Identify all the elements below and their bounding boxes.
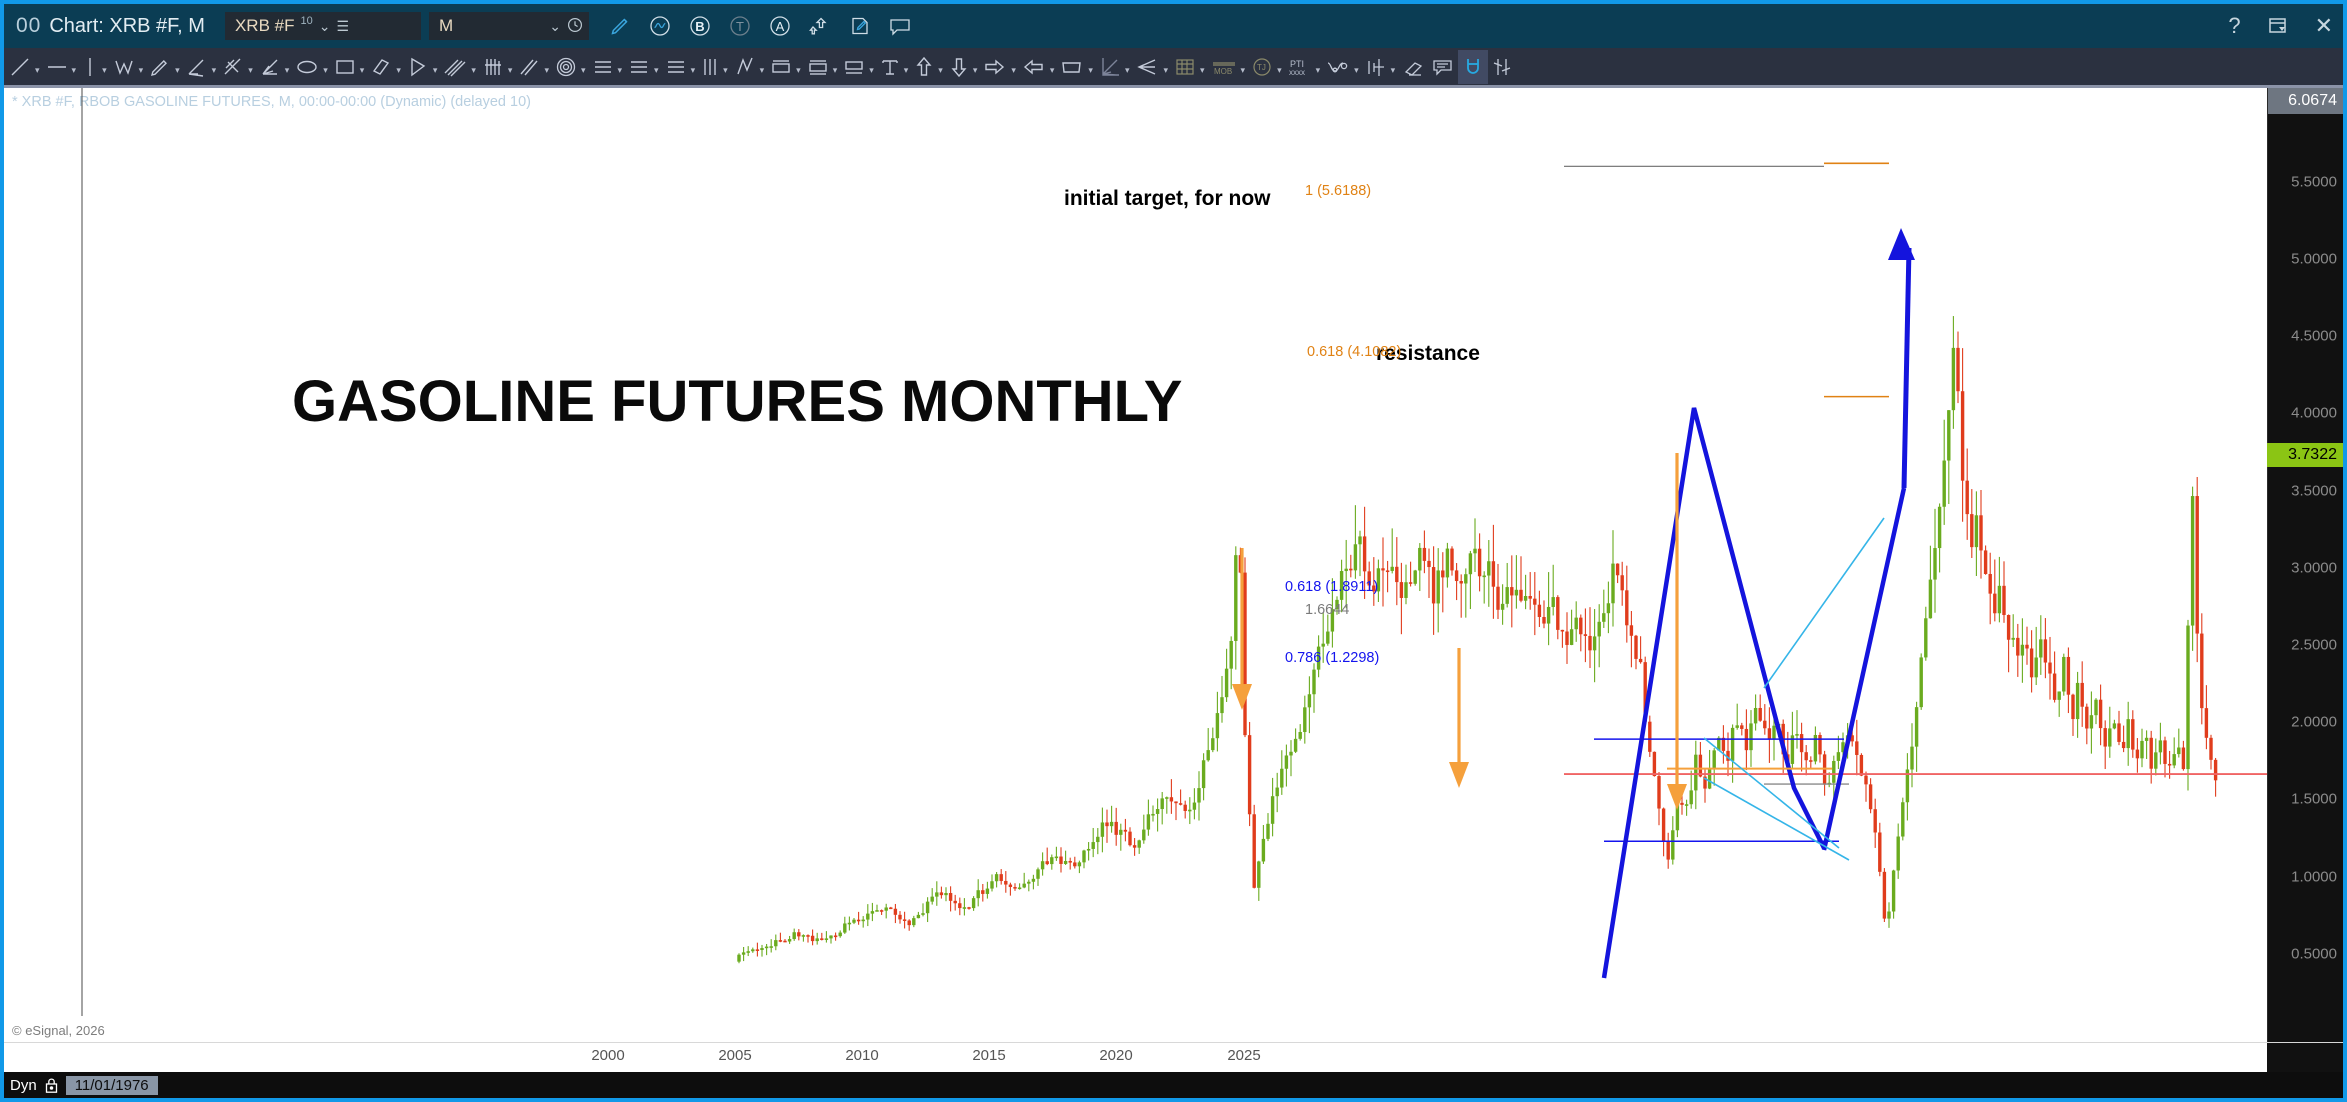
arrow-up-tool[interactable] bbox=[911, 50, 937, 84]
tj-circle-tool[interactable]: TJ bbox=[1248, 50, 1276, 84]
chevron-down-icon[interactable]: ▾ bbox=[972, 58, 981, 75]
chevron-down-icon[interactable]: ⌄ bbox=[319, 18, 331, 35]
candle bbox=[2048, 637, 2051, 700]
candle bbox=[1961, 348, 1964, 522]
candle bbox=[2094, 698, 2097, 724]
candle bbox=[1418, 543, 1421, 591]
candle bbox=[1952, 316, 1955, 429]
candle bbox=[1970, 489, 1973, 558]
chevron-down-icon[interactable]: ▾ bbox=[868, 58, 877, 75]
vertical-bars-tool[interactable] bbox=[698, 50, 722, 84]
close-window-button[interactable]: ✕ bbox=[2315, 15, 2333, 37]
callout-box-tool[interactable] bbox=[804, 50, 832, 84]
down-arrow-2022-head bbox=[1667, 784, 1687, 810]
candle bbox=[1216, 692, 1219, 752]
symbol-field[interactable]: XRB #F 10 ⌄ ☰ bbox=[225, 12, 421, 40]
candle bbox=[1639, 636, 1642, 663]
candle bbox=[760, 945, 763, 957]
candle bbox=[1303, 696, 1306, 744]
annotation-a-icon[interactable]: A bbox=[767, 13, 793, 39]
candle bbox=[1358, 531, 1361, 576]
candle bbox=[1101, 808, 1104, 853]
candle bbox=[981, 884, 984, 902]
candle bbox=[1427, 549, 1430, 598]
chevron-down-icon[interactable]: ▾ bbox=[174, 58, 183, 75]
chart-plot[interactable]: * XRB #F, RBOB GASOLINE FUTURES, M, 00:0… bbox=[4, 88, 2267, 1042]
candle bbox=[1763, 704, 1766, 735]
candle bbox=[1211, 728, 1214, 753]
price-tick: 0.5000 bbox=[2291, 945, 2337, 962]
candle bbox=[1464, 568, 1467, 617]
candle bbox=[1892, 870, 1895, 919]
lock-icon[interactable] bbox=[44, 1077, 59, 1094]
chevron-down-icon[interactable]: ▾ bbox=[832, 58, 841, 75]
candle bbox=[1188, 797, 1191, 824]
status-bar: Dyn 11/01/1976 bbox=[4, 1072, 2343, 1098]
candle bbox=[1874, 799, 1877, 848]
chevron-down-icon[interactable]: ▾ bbox=[138, 58, 147, 75]
measure-tool[interactable] bbox=[1362, 50, 1390, 84]
candle bbox=[747, 946, 750, 956]
arrow-right-tool[interactable] bbox=[980, 50, 1010, 84]
time-tick: 2025 bbox=[1227, 1047, 1260, 1064]
chevron-down-icon[interactable]: ▾ bbox=[1199, 58, 1208, 75]
candle bbox=[1096, 828, 1099, 854]
candle bbox=[1542, 600, 1545, 628]
candle bbox=[1920, 653, 1923, 709]
vertical-line-tool[interactable] bbox=[79, 50, 101, 84]
initial-target-annotation: initial target, for now bbox=[1064, 187, 1271, 211]
candle bbox=[1197, 771, 1200, 820]
pattern-tool[interactable] bbox=[1323, 50, 1353, 84]
minor-trend-b bbox=[1704, 778, 1849, 860]
candle bbox=[1593, 609, 1596, 682]
time-tick: 2020 bbox=[1099, 1047, 1132, 1064]
candle bbox=[1289, 740, 1292, 776]
fib-1-label: 1 (5.6188) bbox=[1305, 183, 1371, 199]
candle bbox=[1736, 704, 1739, 730]
svg-text:MOB: MOB bbox=[1214, 67, 1232, 76]
chevron-down-icon[interactable]: ▾ bbox=[1276, 58, 1285, 75]
candle bbox=[1243, 557, 1246, 737]
chevron-down-icon[interactable]: ▾ bbox=[322, 58, 331, 75]
chevron-down-icon[interactable]: ▾ bbox=[211, 58, 220, 75]
candle bbox=[774, 935, 777, 951]
circle-target-tool[interactable] bbox=[552, 50, 580, 84]
candle bbox=[2081, 661, 2084, 727]
candle bbox=[1768, 707, 1771, 763]
candle bbox=[1326, 615, 1329, 646]
candle bbox=[852, 918, 855, 924]
candle bbox=[1078, 861, 1081, 873]
fibonacci-extension-tool[interactable] bbox=[625, 50, 653, 84]
projection-target-leg bbox=[1904, 248, 1909, 488]
candle bbox=[1575, 601, 1578, 642]
candle bbox=[931, 888, 934, 904]
freehand-pencil-tool[interactable] bbox=[146, 50, 174, 84]
candle bbox=[1667, 833, 1670, 869]
chevron-down-icon[interactable]: ▾ bbox=[617, 58, 626, 75]
candle bbox=[1653, 751, 1656, 776]
candle bbox=[2058, 691, 2061, 717]
candle bbox=[1064, 851, 1067, 865]
candle bbox=[1009, 883, 1012, 896]
pti-tool[interactable]: PTIxxxx bbox=[1285, 50, 1315, 84]
chevron-down-icon[interactable]: ⌄ bbox=[549, 18, 561, 35]
candle bbox=[1869, 778, 1872, 813]
candle bbox=[751, 948, 754, 953]
page-title: GASOLINE FUTURES MONTHLY bbox=[292, 368, 1182, 435]
candle bbox=[1552, 565, 1555, 616]
clock-icon[interactable] bbox=[567, 17, 583, 36]
candle bbox=[880, 909, 883, 914]
drawing-toolbar: ▾ ▾ ▾ ▾ ▾ ▾ ▾ ▾ ▾ ▾ ▾ ▾ ▾ ▾ ▾ ▾ ▾ ▾ ▾ ▾ … bbox=[4, 48, 2343, 88]
candle bbox=[2131, 710, 2134, 758]
candle bbox=[839, 930, 842, 937]
down-arrow-2014-head bbox=[1449, 762, 1469, 788]
pitchfork-tool[interactable] bbox=[219, 50, 247, 84]
grid-tool[interactable] bbox=[1171, 50, 1199, 84]
chevron-down-icon[interactable]: ▾ bbox=[690, 58, 699, 75]
last-price-badge: 3.7322 bbox=[2267, 443, 2343, 467]
chevron-down-icon[interactable]: ▾ bbox=[34, 58, 43, 75]
candle bbox=[954, 895, 957, 911]
candle bbox=[857, 912, 860, 925]
chevron-down-icon[interactable]: ▾ bbox=[470, 58, 479, 75]
candle bbox=[2113, 720, 2116, 730]
bar-style-b-letter: B bbox=[695, 19, 704, 34]
chevron-down-icon[interactable]: ▾ bbox=[903, 58, 912, 75]
candle bbox=[2209, 735, 2212, 770]
candle bbox=[2025, 627, 2028, 665]
candle bbox=[2191, 487, 2194, 651]
candle bbox=[829, 935, 832, 943]
candle bbox=[2154, 739, 2157, 776]
text-t-icon[interactable]: T bbox=[727, 13, 753, 39]
candle bbox=[1147, 800, 1150, 836]
price-tick: 5.0000 bbox=[2291, 250, 2337, 267]
horizontal-line-tool[interactable] bbox=[43, 50, 71, 84]
candle bbox=[1933, 509, 1936, 613]
candle bbox=[1662, 808, 1665, 857]
candle bbox=[1202, 753, 1205, 800]
date-field[interactable]: 11/01/1976 bbox=[66, 1076, 158, 1095]
cycle-lines-tool[interactable] bbox=[479, 50, 507, 84]
candle bbox=[2085, 704, 2088, 745]
candle bbox=[1506, 563, 1509, 607]
polyline-tool[interactable] bbox=[110, 50, 138, 84]
candle bbox=[862, 916, 865, 928]
price-tick: 1.5000 bbox=[2291, 791, 2337, 808]
candle bbox=[2071, 694, 2074, 736]
candle bbox=[806, 934, 809, 942]
chevron-down-icon[interactable]: ▾ bbox=[543, 58, 552, 75]
candle bbox=[1947, 410, 1950, 504]
fibonacci-retracement-tool[interactable] bbox=[589, 50, 617, 84]
candle bbox=[2186, 620, 2189, 791]
candle bbox=[972, 896, 975, 911]
candle bbox=[2150, 731, 2153, 784]
chevron-down-icon[interactable]: ▾ bbox=[1390, 58, 1399, 75]
candle bbox=[825, 931, 828, 942]
candle bbox=[834, 933, 837, 941]
candle bbox=[1915, 702, 1918, 772]
candle bbox=[995, 872, 998, 887]
candle bbox=[1234, 546, 1237, 669]
trendline-tool[interactable] bbox=[6, 50, 34, 84]
price-tick: 3.0000 bbox=[2291, 559, 2337, 576]
candle bbox=[2099, 685, 2102, 746]
candle bbox=[1565, 612, 1568, 664]
candle bbox=[898, 911, 901, 924]
candle bbox=[1529, 572, 1532, 610]
annotation-list-tool[interactable] bbox=[1428, 50, 1458, 84]
candle bbox=[1119, 824, 1122, 851]
chevron-down-icon[interactable]: ▾ bbox=[653, 58, 662, 75]
candle bbox=[1082, 850, 1085, 869]
candle bbox=[2117, 711, 2120, 745]
dynamic-mode-label: Dyn bbox=[10, 1077, 37, 1094]
chevron-down-icon[interactable]: ▾ bbox=[71, 58, 80, 75]
indicator-wave-icon[interactable] bbox=[647, 13, 673, 39]
chevron-down-icon[interactable]: ▾ bbox=[359, 58, 368, 75]
window-controls: ? ✕ bbox=[2228, 4, 2333, 48]
chevron-down-icon[interactable]: ▾ bbox=[432, 58, 441, 75]
time-axis-corner bbox=[2267, 1043, 2343, 1072]
triangle-tool[interactable] bbox=[404, 50, 432, 84]
candle bbox=[1013, 883, 1016, 891]
candle bbox=[1124, 819, 1127, 841]
gann-box-tool[interactable] bbox=[1096, 50, 1124, 84]
candle bbox=[2122, 726, 2125, 753]
candle bbox=[1092, 828, 1095, 857]
candle bbox=[1165, 797, 1168, 814]
comment-bubble-icon[interactable] bbox=[887, 13, 913, 39]
candle bbox=[2012, 614, 2015, 647]
candle bbox=[1041, 852, 1044, 875]
price-axis[interactable]: 6.0674 5.50005.00004.50004.00003.50003.0… bbox=[2267, 88, 2343, 1042]
candle bbox=[1409, 562, 1412, 587]
down-arrow-2008-head bbox=[1232, 684, 1252, 710]
candle bbox=[1533, 572, 1536, 635]
candle bbox=[1805, 745, 1808, 775]
window-grip-icon: 00 bbox=[14, 14, 49, 38]
chevron-down-icon[interactable]: ▾ bbox=[1240, 58, 1249, 75]
candle bbox=[903, 912, 906, 929]
candle bbox=[908, 919, 911, 931]
projection-leg-up bbox=[1824, 488, 1904, 850]
candle bbox=[1055, 847, 1058, 861]
chevron-down-icon[interactable]: ▾ bbox=[795, 58, 804, 75]
candle bbox=[1354, 505, 1357, 579]
chevron-down-icon[interactable]: ▾ bbox=[1010, 58, 1019, 75]
candle bbox=[885, 904, 888, 919]
candle bbox=[1276, 773, 1279, 812]
candle bbox=[1220, 676, 1223, 723]
candle bbox=[737, 953, 740, 963]
candle bbox=[2159, 723, 2162, 765]
candle bbox=[1878, 823, 1881, 876]
candle bbox=[1386, 561, 1389, 592]
candle bbox=[1478, 533, 1481, 591]
parallel-channel-tool[interactable] bbox=[440, 50, 470, 84]
flag-shape-tool[interactable] bbox=[1057, 50, 1087, 84]
arrow-down-tool[interactable] bbox=[946, 50, 972, 84]
candle bbox=[1391, 528, 1394, 573]
chevron-down-icon[interactable]: ▾ bbox=[580, 58, 589, 75]
time-tick: 2015 bbox=[972, 1047, 1005, 1064]
candle bbox=[2205, 685, 2208, 749]
text-label-tool[interactable] bbox=[877, 50, 903, 84]
price-tick: 2.0000 bbox=[2291, 714, 2337, 731]
candle bbox=[1887, 902, 1890, 928]
candle bbox=[1906, 753, 1909, 820]
help-button[interactable]: ? bbox=[2228, 15, 2240, 37]
gann-fan-tool[interactable] bbox=[256, 50, 284, 84]
candle bbox=[1059, 847, 1062, 872]
restore-window-button[interactable] bbox=[2267, 16, 2289, 36]
candle bbox=[1414, 570, 1417, 586]
candle bbox=[1713, 748, 1716, 786]
candle bbox=[1547, 572, 1550, 645]
symbol-value: XRB #F bbox=[235, 16, 295, 36]
candle bbox=[1395, 537, 1398, 605]
candle bbox=[1800, 723, 1803, 772]
candle bbox=[797, 929, 800, 940]
time-axis[interactable]: 200020052010201520202025 bbox=[4, 1042, 2343, 1072]
candle bbox=[2021, 618, 2024, 683]
candle bbox=[1740, 723, 1743, 736]
arrow-left-tool[interactable] bbox=[1019, 50, 1049, 84]
chart-application-window: 00 Chart: XRB #F, M XRB #F 10 ⌄ ☰ M ⌄ bbox=[0, 0, 2347, 1102]
candle bbox=[1722, 725, 1725, 763]
candle bbox=[926, 897, 929, 922]
chevron-down-icon[interactable]: ▾ bbox=[759, 58, 768, 75]
hamburger-menu-icon[interactable]: ☰ bbox=[336, 18, 349, 35]
rectangle-tool[interactable] bbox=[331, 50, 359, 84]
candle bbox=[1501, 584, 1504, 625]
candle bbox=[1496, 564, 1499, 619]
pencil-icon[interactable] bbox=[607, 13, 633, 39]
candle bbox=[1400, 563, 1403, 634]
alerts-arrows-icon[interactable] bbox=[807, 13, 833, 39]
candle bbox=[1262, 825, 1265, 864]
candle bbox=[1966, 448, 1969, 539]
candle bbox=[1257, 861, 1260, 901]
magnet-snap-tool[interactable] bbox=[1458, 50, 1488, 84]
candle bbox=[1984, 545, 1987, 574]
candle bbox=[1524, 575, 1527, 609]
candle bbox=[2090, 691, 2093, 753]
candle bbox=[1910, 723, 1913, 787]
candle bbox=[866, 904, 869, 926]
settings-sliders-tool[interactable] bbox=[1488, 50, 1518, 84]
candle bbox=[783, 939, 786, 942]
edit-note-icon[interactable] bbox=[847, 13, 873, 39]
candle bbox=[1634, 635, 1637, 669]
chevron-down-icon[interactable]: ▾ bbox=[101, 58, 110, 75]
candle bbox=[1510, 555, 1513, 627]
candle bbox=[2200, 613, 2203, 724]
chevron-down-icon[interactable]: ▾ bbox=[507, 58, 516, 75]
flag-box-tool[interactable] bbox=[840, 50, 868, 84]
candle bbox=[967, 907, 970, 910]
chevron-down-icon[interactable]: ▾ bbox=[284, 58, 293, 75]
fan-lines-tool[interactable] bbox=[183, 50, 211, 84]
candle bbox=[1450, 546, 1453, 575]
chevron-down-icon[interactable]: ▾ bbox=[1315, 58, 1324, 75]
chevron-down-icon[interactable]: ▾ bbox=[722, 58, 731, 75]
candle bbox=[1598, 604, 1601, 667]
chevron-down-icon[interactable]: ▾ bbox=[1162, 58, 1171, 75]
candle bbox=[1004, 871, 1007, 893]
arrow-marker-tool[interactable] bbox=[1132, 50, 1162, 84]
time-tick: 2005 bbox=[718, 1047, 751, 1064]
eraser-tool[interactable] bbox=[1398, 50, 1428, 84]
chevron-down-icon[interactable]: ▾ bbox=[937, 58, 946, 75]
price-chart-svg[interactable] bbox=[4, 88, 2267, 1016]
chevron-down-icon[interactable]: ▾ bbox=[247, 58, 256, 75]
copyright-label: © eSignal, 2026 bbox=[12, 1023, 105, 1038]
chevron-down-icon[interactable]: ▾ bbox=[395, 58, 404, 75]
candle bbox=[1115, 808, 1118, 846]
chevron-down-icon[interactable]: ▾ bbox=[1353, 58, 1362, 75]
candle bbox=[2016, 624, 2019, 677]
candle bbox=[977, 879, 980, 906]
candle bbox=[1998, 557, 2001, 622]
candle bbox=[949, 886, 952, 911]
candle bbox=[779, 933, 782, 942]
chart-area: * XRB #F, RBOB GASOLINE FUTURES, M, 00:0… bbox=[4, 88, 2343, 1042]
regression-channel-tool[interactable] bbox=[515, 50, 543, 84]
candle bbox=[1349, 555, 1352, 577]
candle bbox=[2177, 729, 2180, 758]
candle bbox=[1814, 726, 1817, 764]
elliott-wave-tool[interactable] bbox=[731, 50, 759, 84]
window-title: Chart: XRB #F, M bbox=[49, 15, 225, 38]
bar-style-b-icon[interactable]: B bbox=[687, 13, 713, 39]
price-tick: 4.0000 bbox=[2291, 405, 2337, 422]
candle bbox=[1253, 805, 1256, 889]
fib-0618-lower-label: 0.618 (1.8911) bbox=[1285, 579, 1378, 595]
chevron-down-icon[interactable]: ▾ bbox=[1087, 58, 1096, 75]
parallelogram-tool[interactable] bbox=[367, 50, 395, 84]
candle bbox=[1441, 552, 1444, 612]
candle bbox=[2108, 707, 2111, 758]
projection-arrowhead bbox=[1888, 228, 1915, 260]
candle bbox=[1280, 750, 1283, 795]
fibonacci-timezone-tool[interactable] bbox=[662, 50, 690, 84]
text-box-tool[interactable] bbox=[767, 50, 795, 84]
price-axis-top-value: 6.0674 bbox=[2268, 88, 2343, 114]
chevron-down-icon[interactable]: ▾ bbox=[1049, 58, 1058, 75]
candle bbox=[1657, 772, 1660, 825]
chevron-down-icon[interactable]: ▾ bbox=[1124, 58, 1133, 75]
candle bbox=[2127, 702, 2130, 766]
pivot-level-label: 1.6644 bbox=[1305, 602, 1349, 618]
candle bbox=[1483, 571, 1486, 603]
mob-tool[interactable]: MOB bbox=[1208, 50, 1240, 84]
ellipse-tool[interactable] bbox=[292, 50, 322, 84]
candle bbox=[1588, 607, 1591, 668]
candle bbox=[1432, 546, 1435, 635]
interval-field[interactable]: M ⌄ bbox=[429, 12, 589, 40]
candle bbox=[1446, 543, 1449, 588]
candle bbox=[1170, 779, 1173, 814]
candle bbox=[1381, 537, 1384, 606]
title-bar: 00 Chart: XRB #F, M XRB #F 10 ⌄ ☰ M ⌄ bbox=[4, 4, 2343, 48]
text-t-letter: T bbox=[736, 19, 744, 34]
